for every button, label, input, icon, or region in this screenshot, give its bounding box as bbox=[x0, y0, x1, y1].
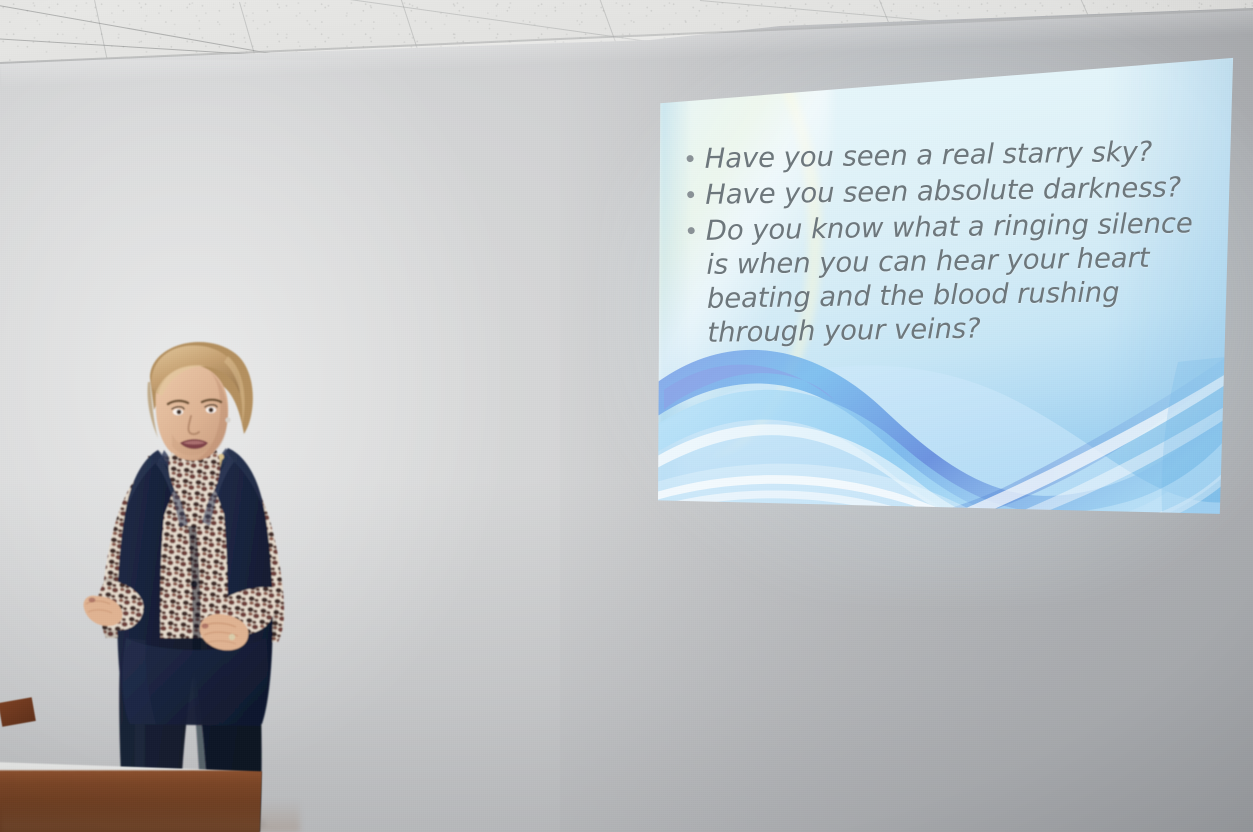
bullet-dot-icon bbox=[687, 155, 694, 162]
bullet-dot-icon bbox=[688, 227, 695, 234]
projected-slide[interactable]: Have you seen a real starry sky? Have yo… bbox=[658, 55, 1236, 537]
slide-bullet-text: Have you seen a real starry sky? bbox=[704, 135, 1212, 177]
bullet-dot-icon bbox=[687, 191, 694, 198]
vest-button bbox=[190, 580, 197, 587]
nail-right bbox=[201, 623, 208, 628]
earring bbox=[225, 417, 230, 422]
slide-bullet-list: Have you seen a real starry sky? Have yo… bbox=[686, 135, 1215, 353]
nail-left bbox=[89, 598, 96, 603]
ring bbox=[229, 634, 235, 640]
slide-bullet-text: Have you seen absolute darkness? bbox=[705, 171, 1213, 213]
lecture-room-scene: Have you seen a real starry sky? Have yo… bbox=[0, 0, 1253, 832]
floor-edge bbox=[0, 800, 300, 832]
eye-right bbox=[209, 408, 214, 413]
presenter bbox=[60, 338, 320, 832]
eye-left bbox=[177, 410, 182, 415]
slide-bullet-item: Do you know what a ringing silence is wh… bbox=[688, 207, 1216, 351]
slide-bullet-text: Do you know what a ringing silence is wh… bbox=[706, 207, 1216, 351]
